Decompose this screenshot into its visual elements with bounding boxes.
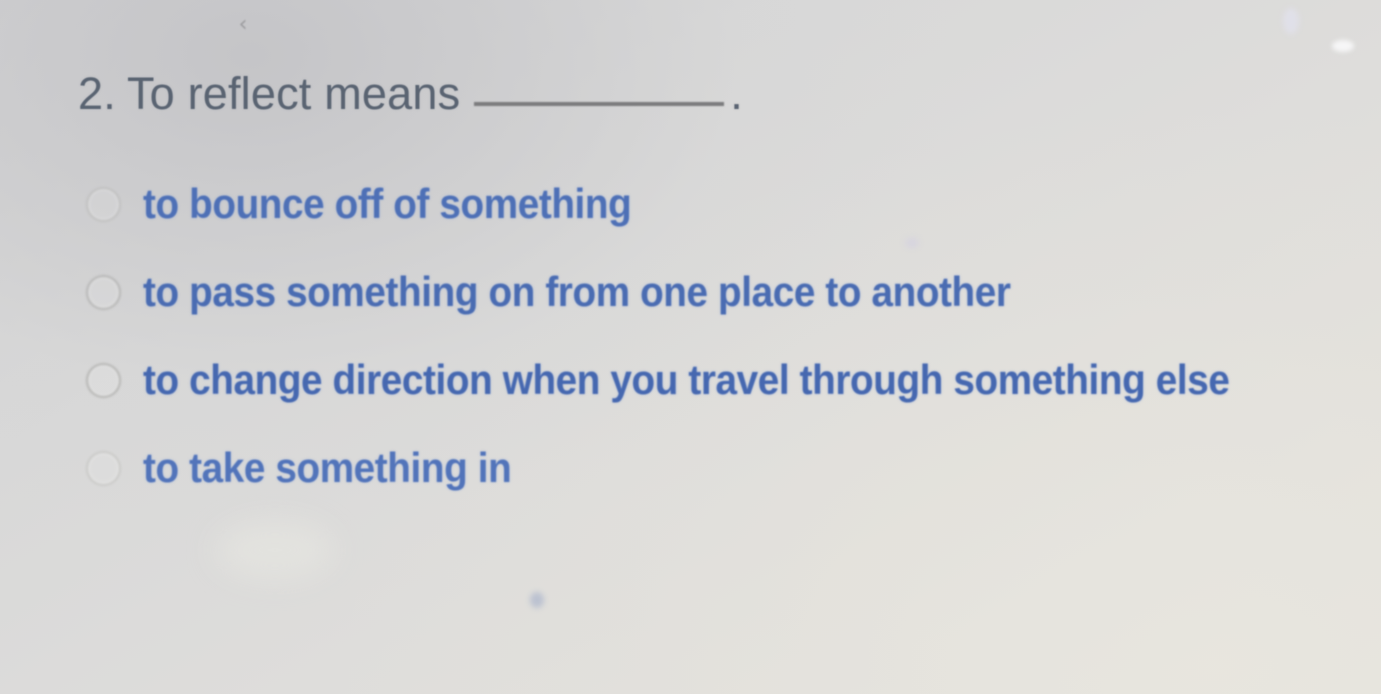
answer-option-b[interactable]: to pass something on from one place to a… — [80, 248, 1360, 336]
answer-option-a[interactable]: to bounce off of something — [80, 160, 1360, 248]
screen-glare — [1332, 40, 1354, 52]
screen-glare — [1283, 8, 1299, 34]
answer-option-label: to bounce off of something — [143, 180, 631, 228]
question-prompt: 2. To reflect means . — [78, 68, 743, 120]
answer-option-label: to take something in — [143, 444, 511, 492]
radio-button-icon[interactable] — [86, 275, 121, 310]
answer-options-list: to bounce off of something to pass somet… — [80, 160, 1360, 512]
screen-glare — [215, 520, 335, 580]
answer-option-c[interactable]: to change direction when you travel thro… — [80, 336, 1360, 424]
radio-button-icon[interactable] — [86, 451, 121, 486]
answer-option-d[interactable]: to take something in — [80, 424, 1360, 512]
question-blank-line — [474, 102, 724, 106]
chevron-left-icon[interactable]: ‹ — [228, 8, 258, 42]
screen-glare — [530, 592, 544, 608]
question-period: . — [730, 68, 743, 120]
quiz-screen: ‹ 2. To reflect means . to bounce off of… — [0, 0, 1381, 694]
question-number: 2. — [78, 68, 116, 120]
answer-option-label: to change direction when you travel thro… — [143, 356, 1229, 404]
radio-button-icon[interactable] — [86, 363, 121, 398]
radio-button-icon[interactable] — [86, 187, 121, 222]
question-text: To reflect means — [127, 68, 460, 120]
answer-option-label: to pass something on from one place to a… — [143, 268, 1011, 316]
